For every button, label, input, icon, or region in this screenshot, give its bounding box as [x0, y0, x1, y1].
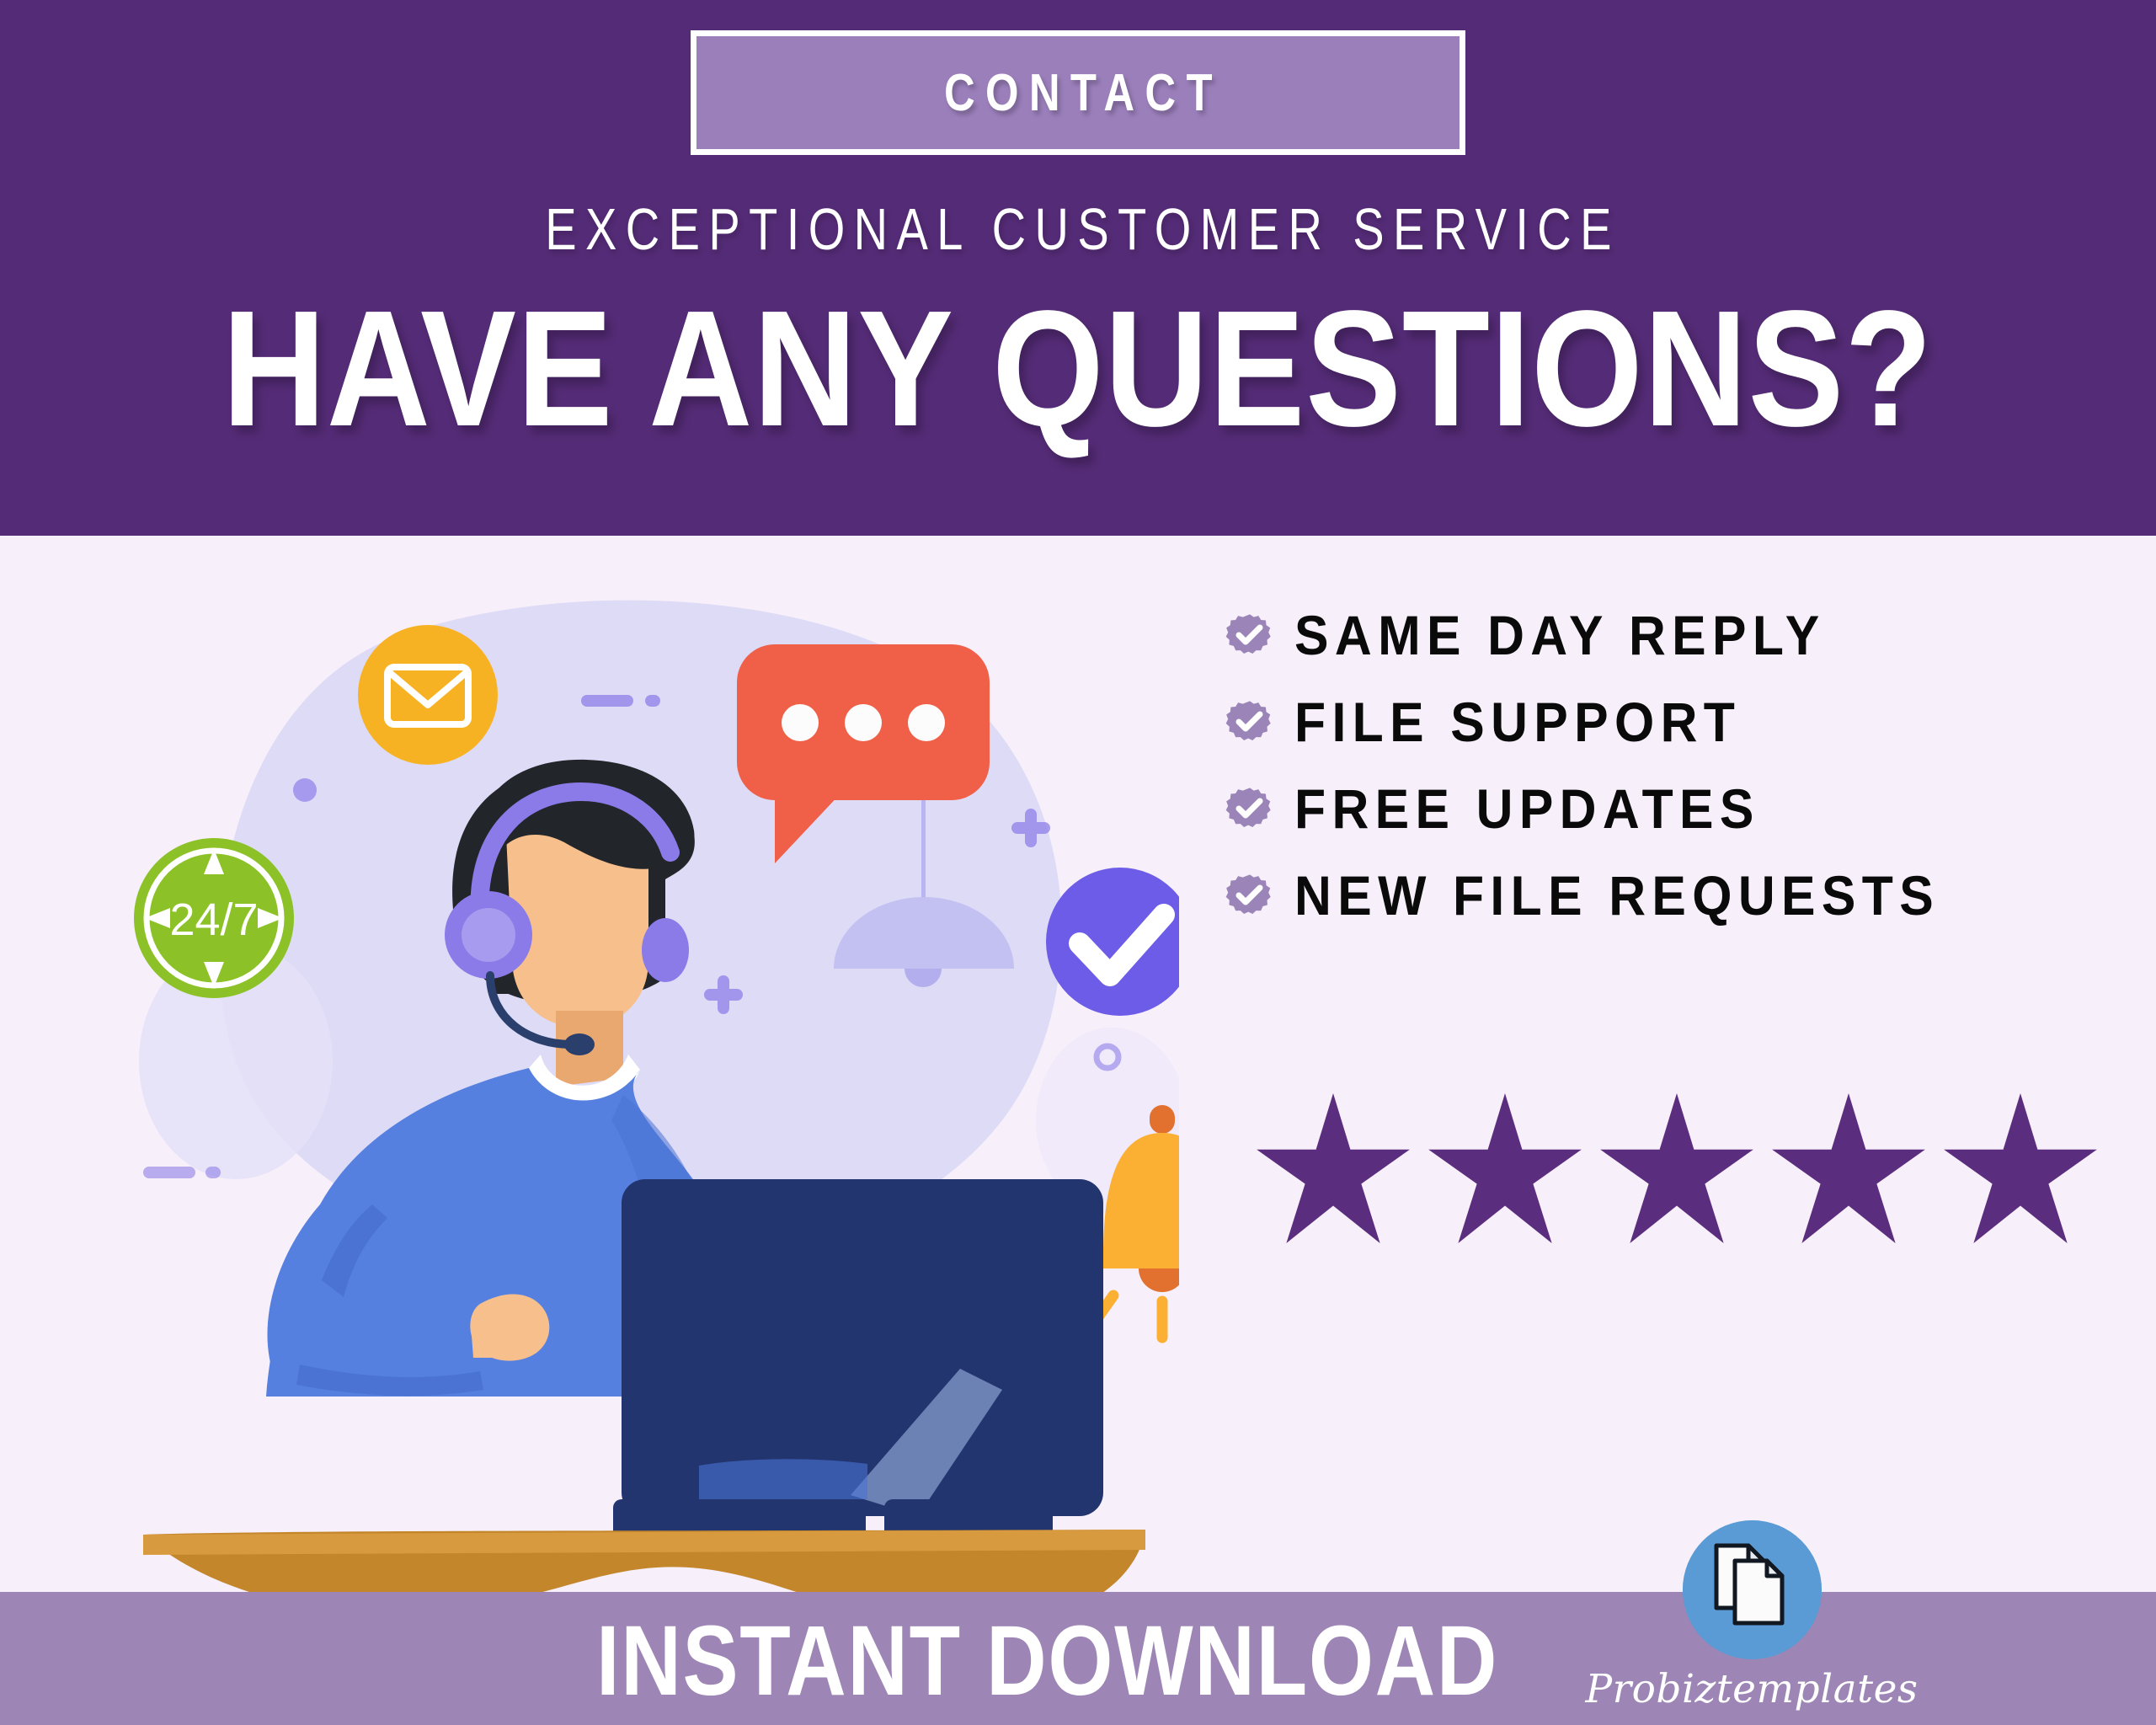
brand-watermark: Probiztemplates — [1625, 1520, 1878, 1712]
feature-label: NEW FILE REQUESTS — [1294, 863, 1940, 927]
verified-check-badge-icon — [1225, 872, 1273, 919]
star-icon — [1598, 1093, 1755, 1247]
feature-item: FILE SUPPORT — [1225, 690, 1996, 754]
svg-text:24/7: 24/7 — [169, 895, 258, 945]
document-pages-icon — [1683, 1520, 1822, 1659]
feature-label: FREE UPDATES — [1294, 777, 1760, 841]
feature-label: SAME DAY REPLY — [1294, 603, 1826, 667]
verified-check-badge-icon — [1225, 698, 1273, 745]
star-icon — [1770, 1093, 1927, 1247]
feature-list: SAME DAY REPLY FILE SUPPORT FREE UPDATES — [1225, 603, 1996, 927]
customer-support-illustration: 24/7 — [109, 539, 1179, 1592]
email-envelope-badge — [358, 625, 498, 765]
feature-item: SAME DAY REPLY — [1225, 603, 1996, 667]
feature-item: FREE UPDATES — [1225, 777, 1996, 841]
promo-poster: CONTACT EXCEPTIONAL CUSTOMER SERVICE HAV… — [0, 0, 2156, 1725]
star-icon — [1427, 1093, 1583, 1247]
header-banner: CONTACT EXCEPTIONAL CUSTOMER SERVICE HAV… — [0, 0, 2156, 536]
feature-label: FILE SUPPORT — [1294, 690, 1741, 754]
verified-check-badge-icon — [1225, 785, 1273, 832]
instant-download-label: INSTANT DOWNLOAD — [596, 1604, 1498, 1718]
star-icon — [1255, 1093, 1412, 1247]
brand-name-label: Probiztemplates — [1586, 1666, 1919, 1712]
star-icon — [1942, 1093, 2099, 1247]
header-subtitle: EXCEPTIONAL CUSTOMER SERVICE — [536, 195, 1620, 263]
monitor — [613, 1179, 1103, 1540]
star-rating — [1255, 1093, 2099, 1247]
contact-badge-label: CONTACT — [933, 63, 1222, 123]
verified-check-badge-icon — [1225, 611, 1273, 659]
clock-24-7-badge: 24/7 — [134, 838, 294, 998]
contact-badge: CONTACT — [691, 30, 1465, 155]
header-headline: HAVE ANY QUESTIONS? — [222, 286, 1933, 451]
feature-item: NEW FILE REQUESTS — [1225, 863, 1996, 927]
check-circle-icon — [1046, 868, 1179, 1016]
